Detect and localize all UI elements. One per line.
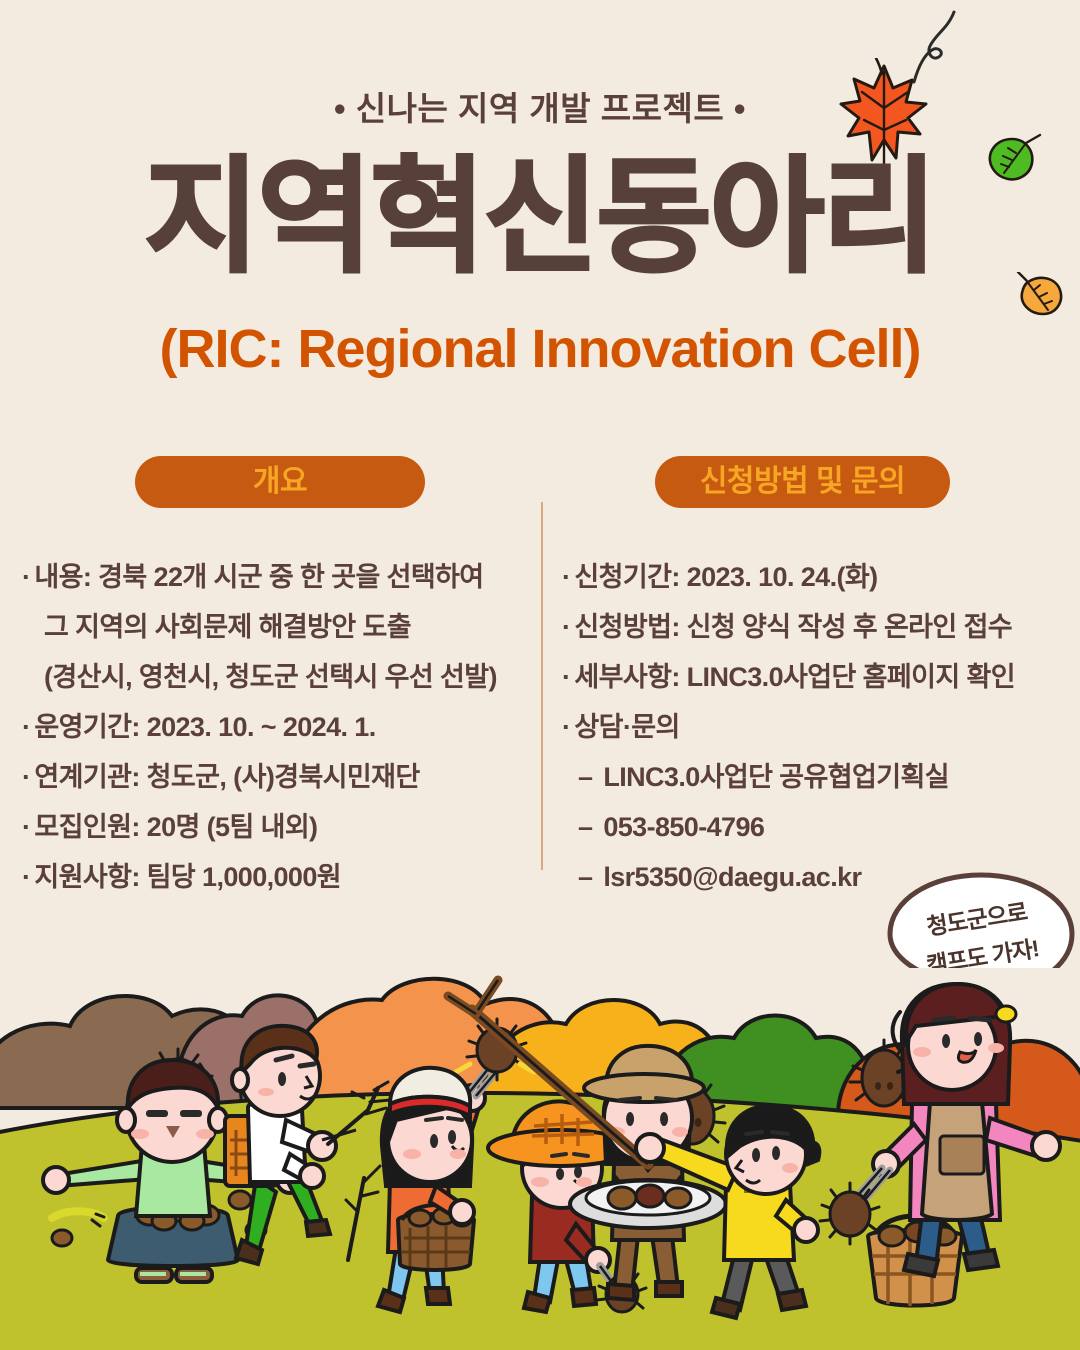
list-item: ·모집인원: 20명 (5팀 내외) [22,802,527,852]
list-item: ·연계기관: 청도군, (사)경북시민재단 [22,752,527,802]
bullet-marker: · [562,562,570,592]
list-item: (경산시, 영천시, 청도군 선택시 우선 선발) [22,652,527,702]
autumn-scene-illustration [0,968,1080,1350]
bullet-marker: · [562,712,570,742]
list-item-label: 그 지역의 사회문제 해결방안 도출 [44,612,411,642]
bullet-marker: · [22,762,30,792]
list-item: ·세부사항: LINC3.0사업단 홈페이지 확인 [562,652,1062,702]
poster-english-title: (RIC: Regional Innovation Cell) [0,318,1080,380]
list-item-label: 지원사항: 팀당 1,000,000원 [34,862,341,892]
phone-number[interactable]: – 053-850-4796 [562,802,1062,852]
list-item: – LINC3.0사업단 공유협업기획실 [562,752,1062,802]
bullet-marker: · [562,612,570,642]
apply-column: ·신청기간: 2023. 10. 24.(화) ·신청방법: 신청 양식 작성 … [562,552,1062,902]
list-item-label: 모집인원: 20명 (5팀 내외) [34,812,317,842]
list-item-label: lsr5350@daegu.ac.kr [603,862,861,892]
list-item: 그 지역의 사회문제 해결방안 도출 [22,602,527,652]
list-item: ·지원사항: 팀당 1,000,000원 [22,852,527,902]
list-item-label: 상담·문의 [574,712,679,742]
poster-root: • 신나는 지역 개발 프로젝트 • 지역혁신동아리 (RIC: Regiona… [0,0,1080,1350]
list-item-label: 신청방법: 신청 양식 작성 후 온라인 접수 [574,612,1012,642]
list-item: ·신청방법: 신청 양식 작성 후 온라인 접수 [562,602,1062,652]
section-badge-apply: 신청방법 및 문의 [655,456,950,508]
bullet-marker: – [578,862,592,892]
bullet-marker: · [562,662,570,692]
list-item: ·내용: 경북 22개 시군 중 한 곳을 선택하여 [22,552,527,602]
section-badge-overview: 개요 [135,456,425,508]
list-item: ·신청기간: 2023. 10. 24.(화) [562,552,1062,602]
list-item-label: 내용: 경북 22개 시군 중 한 곳을 선택하여 [34,562,483,592]
bullet-marker: · [22,812,30,842]
list-item-label: 053-850-4796 [603,812,764,842]
overview-column: ·내용: 경북 22개 시군 중 한 곳을 선택하여 그 지역의 사회문제 해결… [22,552,527,902]
bullet-marker: · [22,712,30,742]
list-item-label: 세부사항: LINC3.0사업단 홈페이지 확인 [574,662,1015,692]
list-item-label: (경산시, 영천시, 청도군 선택시 우선 선발) [44,662,497,692]
list-item-label: 신청기간: 2023. 10. 24.(화) [574,562,877,592]
bullet-marker: – [578,812,592,842]
poster-main-title: 지역혁신동아리 [0,152,1080,283]
list-item: ·운영기간: 2023. 10. ~ 2024. 1. [22,702,527,752]
list-item-label: 운영기간: 2023. 10. ~ 2024. 1. [34,712,375,742]
curl-line-icon [908,10,968,90]
bullet-marker: · [22,562,30,592]
bullet-marker: · [22,862,30,892]
bullet-marker: – [578,762,592,792]
column-divider [541,502,543,870]
list-item-label: 연계기관: 청도군, (사)경북시민재단 [34,762,419,792]
list-item: ·상담·문의 [562,702,1062,752]
poster-subtitle: • 신나는 지역 개발 프로젝트 • [0,82,1080,130]
list-item-label: LINC3.0사업단 공유협업기획실 [603,762,949,792]
